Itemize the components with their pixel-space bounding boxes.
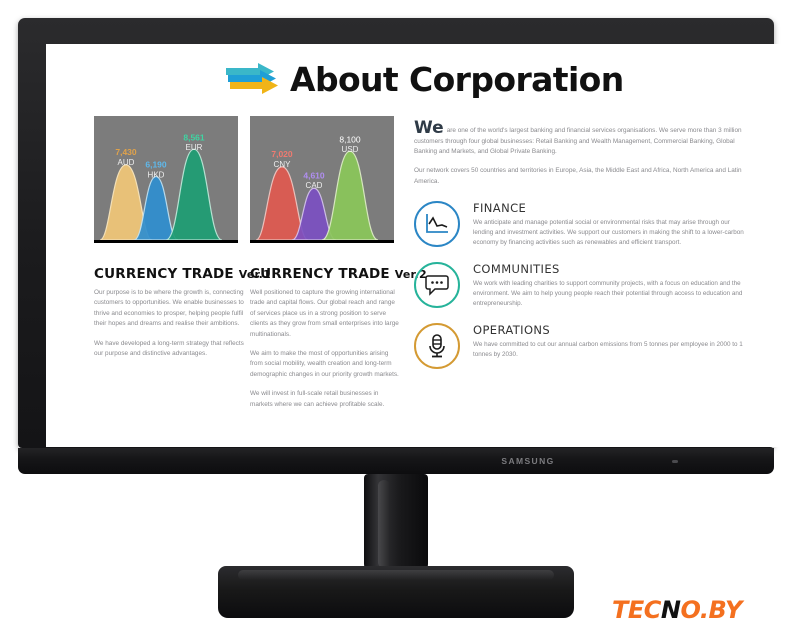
monitor-chin — [18, 448, 774, 474]
power-led-indicator — [672, 460, 678, 463]
feature-finance-text: FINANCE We anticipate and manage potenti… — [473, 201, 744, 248]
line-chart-icon — [414, 201, 460, 247]
site-watermark: TECNO.BY — [612, 596, 742, 624]
feature-communities-text: COMMUNITIES We work with leading chariti… — [473, 262, 744, 309]
slide-header: About Corporation — [224, 62, 624, 98]
drop-cap: We — [414, 118, 444, 138]
card-body-1: Our purpose is to be where the growth is… — [94, 288, 244, 368]
double-arrow-icon — [224, 62, 280, 98]
chart1-value-1: 6,190 — [145, 160, 167, 170]
chart1-label-2: EUR — [186, 143, 203, 152]
intro-paragraph-1: Weare one of the world's largest banking… — [414, 120, 744, 157]
monitor-stand-neck — [364, 474, 428, 574]
feature-communities-heading: COMMUNITIES — [473, 262, 744, 276]
card-2-paragraph: Well positioned to capture the growing i… — [250, 288, 400, 340]
monitor-screen: About Corporation 7,430 AUD 6,190 HKD 8,… — [46, 44, 782, 447]
speech-bubble-icon — [414, 262, 460, 308]
chart2-label-1: CAD — [306, 181, 323, 190]
feature-operations-text: OPERATIONS We have committed to cut our … — [473, 323, 744, 360]
chart1-value-0: 7,430 — [115, 147, 137, 157]
chart2-value-0: 7,020 — [271, 149, 293, 159]
intro-paragraph-1-text: are one of the world's largest banking a… — [414, 127, 742, 155]
feature-operations-body: We have committed to cut our annual carb… — [473, 340, 744, 360]
card-1-paragraph: Our purpose is to be where the growth is… — [94, 288, 244, 330]
watermark-suffix: O.BY — [680, 596, 741, 624]
card-title-2-main: CURRENCY TRADE — [250, 266, 390, 282]
feature-operations: OPERATIONS We have committed to cut our … — [414, 323, 744, 369]
feature-finance-body: We anticipate and manage potential socia… — [473, 218, 744, 248]
currency-chart-1: 7,430 AUD 6,190 HKD 8,561 EUR — [94, 116, 238, 243]
brand-logo: SAMSUNG — [498, 455, 558, 467]
card-body-2: Well positioned to capture the growing i… — [250, 288, 400, 419]
feature-finance-heading: FINANCE — [473, 201, 744, 215]
right-column: Weare one of the world's largest banking… — [414, 120, 744, 369]
chart2-value-1: 4,610 — [303, 171, 325, 181]
card-1-paragraph: We have developed a long-term strategy t… — [94, 339, 244, 360]
chart1-label-1: HKD — [148, 171, 165, 180]
screenshot-root: About Corporation 7,430 AUD 6,190 HKD 8,… — [0, 0, 792, 640]
intro-block: Weare one of the world's largest banking… — [414, 120, 744, 187]
watermark-prefix: TEC — [612, 596, 661, 624]
chart2-value-2: 8,100 — [339, 134, 361, 144]
monitor-bezel: About Corporation 7,430 AUD 6,190 HKD 8,… — [18, 18, 774, 448]
monitor-stand-base — [218, 566, 574, 618]
page-title: About Corporation — [290, 62, 624, 98]
watermark-mark: N — [661, 596, 681, 624]
card-title-1: CURRENCY TRADE Ver.1 — [94, 266, 271, 282]
feature-communities: COMMUNITIES We work with leading chariti… — [414, 262, 744, 309]
chart1-value-2: 8,561 — [183, 133, 205, 143]
card-2-paragraph: We will invest in full-scale retail busi… — [250, 389, 400, 410]
card-title-1-main: CURRENCY TRADE — [94, 266, 234, 282]
feature-communities-body: We work with leading charities to suppor… — [473, 279, 744, 309]
presentation-slide: About Corporation 7,430 AUD 6,190 HKD 8,… — [46, 44, 782, 447]
chart2-label-0: CNY — [274, 160, 292, 169]
chart1-label-0: AUD — [118, 158, 135, 167]
microphone-icon — [414, 323, 460, 369]
feature-operations-heading: OPERATIONS — [473, 323, 744, 337]
currency-chart-2: 7,020 CNY 4,610 CAD 8,100 USD — [250, 116, 394, 243]
card-title-2: CURRENCY TRADE Ver.2 — [250, 266, 427, 282]
card-2-paragraph: We aim to make the most of opportunities… — [250, 349, 400, 380]
intro-paragraph-2: Our network covers 50 countries and terr… — [414, 166, 744, 186]
feature-finance: FINANCE We anticipate and manage potenti… — [414, 201, 744, 248]
chart2-label-2: USD — [342, 145, 359, 154]
